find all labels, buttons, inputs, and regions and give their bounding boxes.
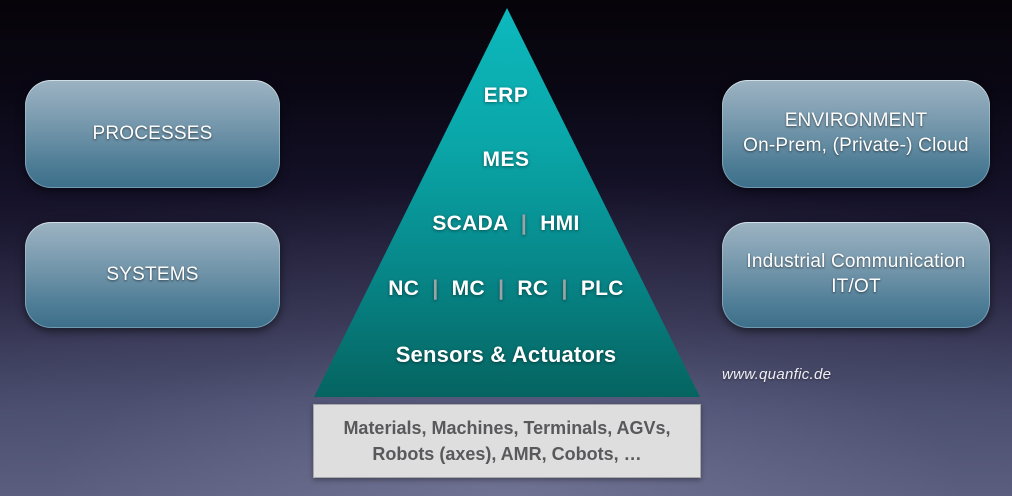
pyramid-layer-mc-text: MC	[452, 277, 485, 300]
pyramid-layer-sensors-actuators: Sensors & Actuators	[0, 342, 1012, 368]
pyramid-layer-erp-text: ERP	[484, 84, 529, 107]
box-systems[interactable]: SYSTEMS	[25, 222, 280, 328]
box-processes-label: PROCESSES	[92, 122, 212, 147]
separator-icon: |	[554, 277, 574, 300]
pyramid-layer-scada-hmi: SCADA | HMI	[0, 212, 1012, 236]
pyramid-layer-plc-text: PLC	[581, 277, 624, 300]
slide-canvas: PROCESSES SYSTEMS ENVIRONMENT On-Prem, (…	[0, 0, 1012, 496]
website-url: www.quanfic.de	[722, 366, 831, 383]
pyramid-layer-mes: MES	[0, 148, 1012, 172]
pyramid-layer-sensors-text: Sensors & Actuators	[396, 342, 617, 367]
pyramid-layer-nc-text: NC	[388, 277, 419, 300]
pyramid-layer-scada-text: SCADA	[432, 212, 507, 235]
pyramid-triangle	[314, 8, 700, 397]
pyramid-layer-rc-text: RC	[517, 277, 548, 300]
pyramid-layer-hmi-text: HMI	[540, 212, 579, 235]
separator-icon: |	[514, 212, 534, 235]
separator-icon: |	[491, 277, 511, 300]
pyramid-layer-mes-text: MES	[482, 148, 529, 171]
box-base-equipment[interactable]: Materials, Machines, Terminals, AGVs, Ro…	[313, 404, 701, 478]
box-industrial-communication[interactable]: Industrial Communication IT/OT	[722, 222, 990, 328]
separator-icon: |	[425, 277, 445, 300]
box-base-equipment-label: Materials, Machines, Terminals, AGVs, Ro…	[343, 415, 670, 467]
pyramid-layer-erp: ERP	[0, 84, 1012, 108]
pyramid-layer-control: NC | MC | RC | PLC	[0, 277, 1012, 301]
